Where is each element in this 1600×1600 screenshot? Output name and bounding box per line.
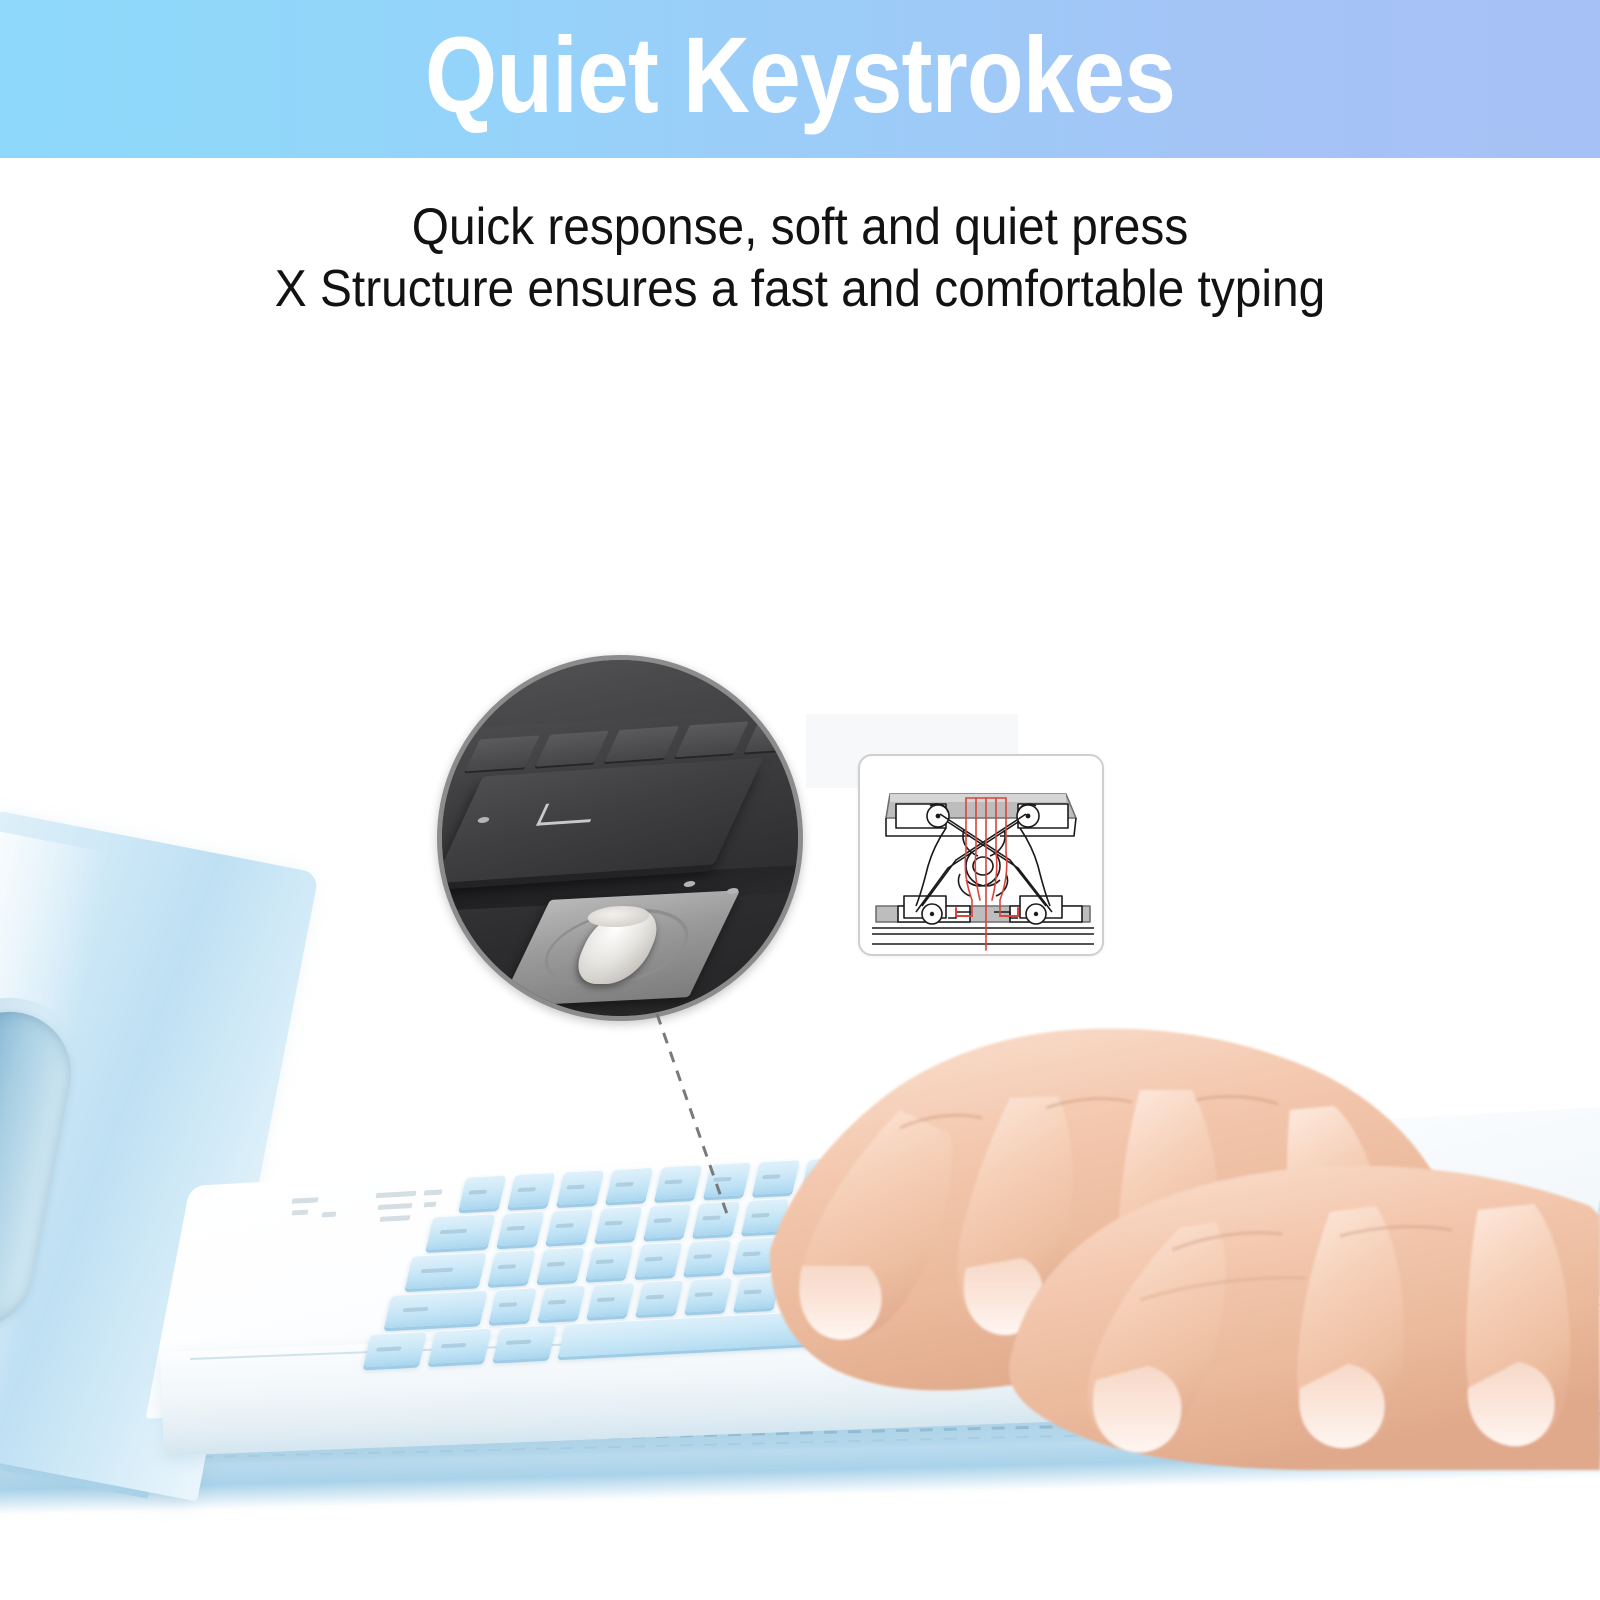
keyboard-key[interactable] [1125, 1249, 1257, 1289]
keyboard-key[interactable] [546, 1208, 594, 1244]
keyboard-key[interactable] [1026, 1221, 1074, 1257]
keyboard-key[interactable] [1076, 1256, 1124, 1292]
keyboard-key[interactable] [488, 1249, 536, 1285]
keyboard-key[interactable] [830, 1231, 878, 1267]
keyboard-key[interactable] [557, 1170, 605, 1206]
keyboard-key[interactable] [928, 1226, 976, 1262]
keycap-small [744, 716, 803, 752]
keyboard-key[interactable] [405, 1252, 487, 1289]
keyboard-key[interactable] [733, 1236, 781, 1272]
keyboard-key[interactable] [1231, 1171, 1303, 1208]
keyboard-key[interactable] [493, 1324, 557, 1360]
keyboard-key[interactable] [929, 1264, 977, 1300]
keyboard-key[interactable] [888, 1190, 936, 1226]
keyboard-key[interactable] [832, 1269, 880, 1305]
keyboard-key[interactable] [635, 1242, 683, 1278]
keycap-small [674, 721, 748, 757]
keyboard-key[interactable] [606, 1167, 654, 1203]
keyboard-key[interactable] [1144, 1139, 1192, 1175]
keyboard-key[interactable] [937, 1188, 985, 1224]
keyboard-key[interactable] [1182, 1175, 1230, 1211]
keyboard-key[interactable] [1193, 1134, 1287, 1172]
keycap-small [534, 730, 608, 766]
keyboard-key[interactable] [1142, 1291, 1194, 1327]
keyboard-key[interactable] [489, 1287, 537, 1323]
keyboard-key[interactable] [1036, 1296, 1088, 1332]
keyboard-key[interactable] [880, 1267, 928, 1303]
keyboard-key[interactable] [978, 1262, 1026, 1298]
product-feature-image: Quiet Keystrokes Quick response, soft an… [0, 0, 1600, 1600]
keyboard-key[interactable] [971, 1299, 1035, 1335]
keyboard-key[interactable] [1084, 1180, 1132, 1216]
keyboard-key[interactable] [693, 1200, 741, 1236]
keyboard-key[interactable] [1095, 1141, 1143, 1177]
keyboard-key[interactable] [703, 1162, 751, 1198]
keyboard-key[interactable] [782, 1234, 830, 1270]
keyboard-key[interactable] [734, 1274, 782, 1310]
x-structure-diagram [858, 754, 1104, 956]
keyboard-indicator-mark [322, 1212, 337, 1218]
page-title: Quiet Keystrokes [112, 10, 1488, 140]
keyboard-key[interactable] [986, 1185, 1034, 1221]
keyboard-key[interactable] [1089, 1294, 1141, 1330]
subtitle-block: Quick response, soft and quiet press X S… [0, 196, 1600, 320]
keyboard-key[interactable] [752, 1159, 800, 1195]
keyboard-key[interactable] [907, 1303, 971, 1339]
keyboard-key[interactable] [783, 1272, 831, 1308]
keyboard-key[interactable] [899, 1152, 947, 1188]
keyboard-key[interactable] [801, 1157, 849, 1193]
keyboard-key[interactable] [537, 1247, 585, 1283]
keyboard-key[interactable] [636, 1280, 684, 1316]
keyboard-key[interactable] [977, 1224, 1025, 1260]
keyboard-key[interactable] [997, 1146, 1045, 1182]
keyboard-key[interactable] [1046, 1144, 1094, 1180]
keyboard-key[interactable] [790, 1195, 838, 1231]
keyboard-key[interactable] [1027, 1259, 1075, 1295]
subtitle-line-2: X Structure ensures a fast and comfortab… [64, 258, 1536, 320]
keyboard-key[interactable] [587, 1282, 635, 1318]
keyboard-key[interactable] [459, 1175, 507, 1211]
keyboard-key[interactable] [655, 1164, 703, 1200]
keyboard-key[interactable] [497, 1211, 545, 1247]
keyboard-key[interactable] [384, 1290, 488, 1328]
keyboard-key[interactable] [1133, 1177, 1181, 1213]
subtitle-line-1: Quick response, soft and quiet press [64, 196, 1536, 258]
keyboard-key[interactable] [538, 1285, 586, 1321]
keyboard-indicator-mark [292, 1210, 309, 1216]
keyboard-key[interactable] [428, 1328, 492, 1364]
keyboard-key[interactable] [741, 1198, 789, 1234]
keyboard-key[interactable] [586, 1244, 634, 1280]
keyboard-key[interactable] [839, 1193, 887, 1229]
keyboard-key[interactable] [363, 1331, 427, 1367]
keyboard-key[interactable] [948, 1149, 996, 1185]
keyboard-key[interactable] [685, 1277, 733, 1313]
keyboard-key[interactable] [879, 1229, 927, 1265]
keyboard-key[interactable] [644, 1203, 692, 1239]
header-banner: Quiet Keystrokes [0, 0, 1600, 158]
keyboard-key[interactable] [850, 1154, 898, 1190]
keyboard-key[interactable] [1035, 1182, 1083, 1218]
x-structure-drawing [860, 756, 1104, 956]
keycap-closeup-inset [437, 655, 803, 1021]
keyboard-key[interactable] [1173, 1210, 1281, 1249]
keyboard-key[interactable] [1124, 1216, 1172, 1252]
keyboard-key[interactable] [508, 1172, 556, 1208]
keycap-small [604, 726, 678, 762]
keyboard-key[interactable] [1075, 1218, 1123, 1254]
keyboard-key[interactable] [426, 1213, 496, 1250]
keyboard-key[interactable] [595, 1206, 643, 1242]
keyboard-key[interactable] [684, 1239, 732, 1275]
